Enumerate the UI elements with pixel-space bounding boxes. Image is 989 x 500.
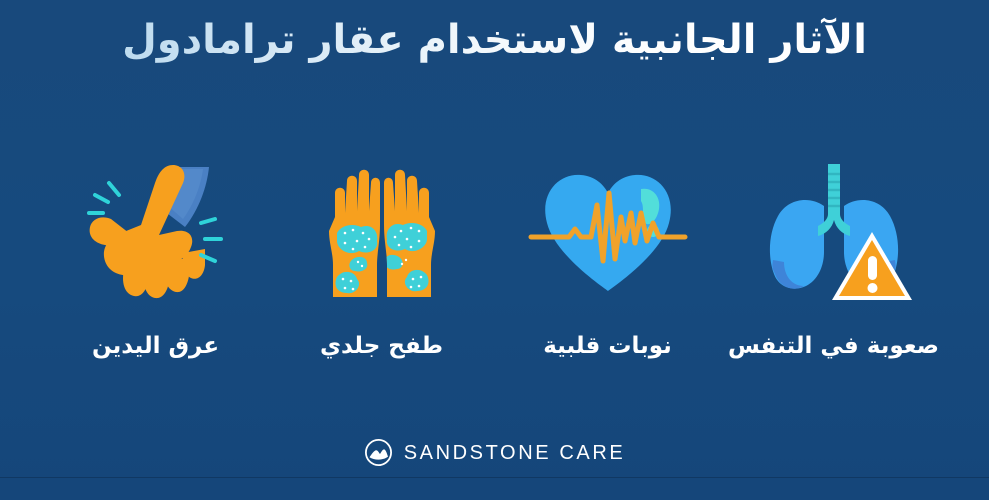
side-effect-item-breathing-difficulty: صعوبة في التنفس (721, 158, 947, 362)
side-effect-item-heart-attacks: نوبات قلبية (495, 158, 721, 362)
title-container: الآثار الجانبية لاستخدام عقار ترامادول (0, 16, 989, 65)
side-effects-row: عرق اليدين (0, 158, 989, 408)
side-effect-label: نوبات قلبية (543, 332, 672, 362)
sweaty-hand-icon (71, 158, 241, 308)
brand-name: SANDSTONE CARE (404, 443, 626, 463)
side-effect-label: صعوبة في التنفس (728, 332, 939, 362)
rash-hands-icon (297, 158, 467, 308)
page-title: الآثار الجانبية لاستخدام عقار ترامادول (30, 16, 959, 65)
brand-footer: SANDSTONE CARE (0, 438, 989, 467)
sandstone-mountain-circle-icon (364, 438, 393, 467)
heart-ecg-icon (523, 158, 693, 308)
side-effect-label: طفح جلدي (320, 332, 443, 362)
side-effect-item-sweaty-hands: عرق اليدين (43, 158, 269, 362)
side-effect-label: عرق اليدين (92, 332, 219, 362)
side-effect-item-skin-rash: طفح جلدي (269, 158, 495, 362)
footer-divider (0, 477, 989, 478)
lungs-warning-icon (749, 158, 919, 308)
infographic-canvas: الآثار الجانبية لاستخدام عقار ترامادول (0, 0, 989, 500)
